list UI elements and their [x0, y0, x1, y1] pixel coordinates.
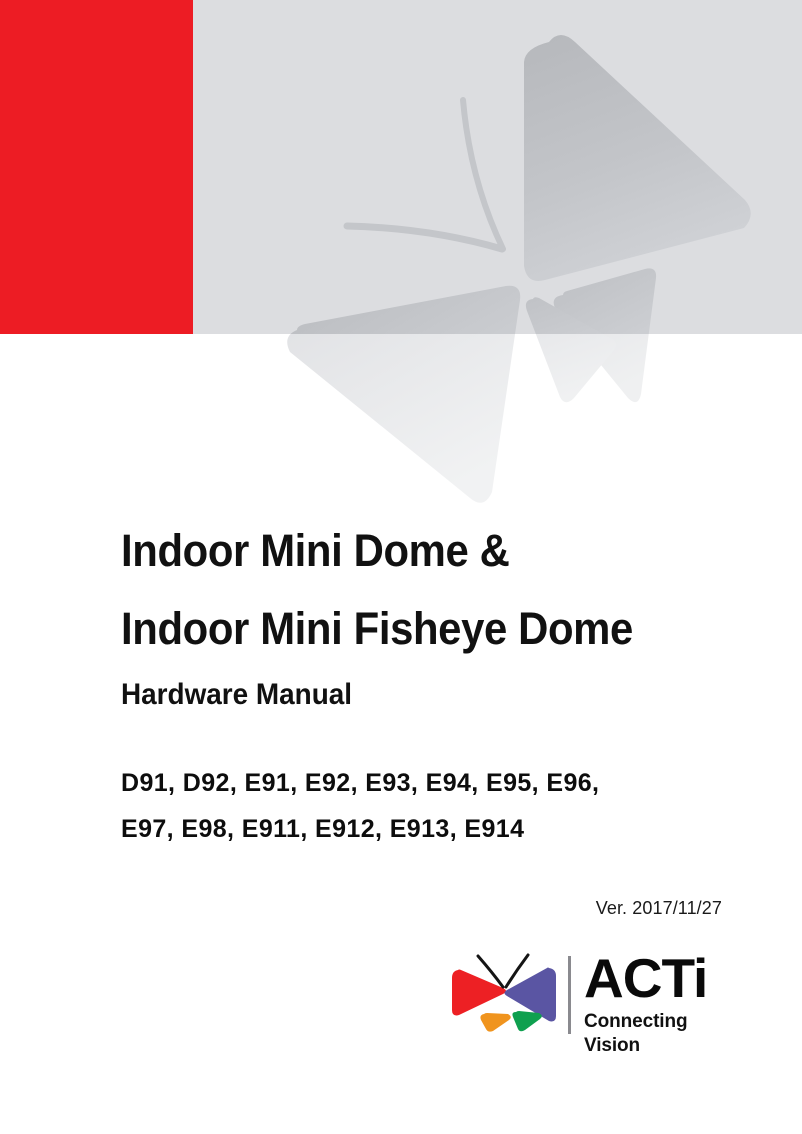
brand-tagline: Connecting Vision [584, 1010, 744, 1058]
model-line-1: D91, D92, E91, E92, E93, E94, E95, E96, [121, 760, 761, 806]
brand-name: ACTi [584, 948, 744, 1008]
cover-title-block: Indoor Mini Dome & Indoor Mini Fisheye D… [121, 512, 741, 718]
header-band [0, 0, 802, 334]
acti-wordmark: ACTi Connecting Vision [584, 948, 744, 1058]
model-line-2: E97, E98, E911, E912, E913, E914 [121, 806, 761, 852]
logo-divider [568, 956, 571, 1034]
version-label: Ver. 2017/11/27 [596, 898, 722, 919]
acti-logo: ACTi Connecting Vision [448, 948, 738, 1040]
page-subtitle: Hardware Manual [121, 672, 698, 718]
page-title-line-2: Indoor Mini Fisheye Dome [121, 590, 698, 668]
gray-header-band [193, 0, 802, 334]
acti-butterfly-icon [448, 950, 560, 1036]
red-accent-bar [0, 0, 193, 334]
page-title-line-1: Indoor Mini Dome & [121, 512, 698, 590]
model-number-list: D91, D92, E91, E92, E93, E94, E95, E96, … [121, 760, 761, 852]
